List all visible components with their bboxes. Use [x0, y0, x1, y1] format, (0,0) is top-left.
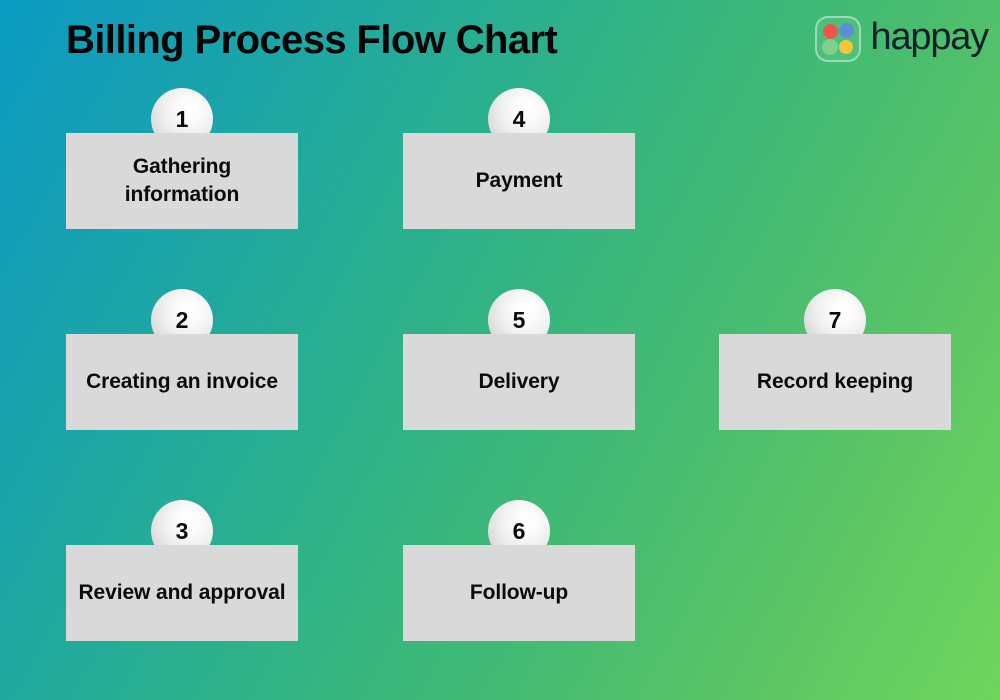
- logo-dot-blue-icon: [839, 23, 854, 38]
- step-box: Delivery: [403, 334, 635, 430]
- step-box: Record keeping: [719, 334, 951, 430]
- logo-dot-green-icon: [822, 39, 838, 55]
- logo-wordmark: happay: [871, 18, 988, 60]
- step-label: Gathering information: [74, 153, 290, 208]
- logo-dot-yellow-icon: [839, 40, 853, 54]
- step-label: Creating an invoice: [86, 368, 278, 396]
- step-label: Review and approval: [78, 579, 285, 607]
- page-title: Billing Process Flow Chart: [66, 16, 557, 64]
- step-label: Delivery: [479, 368, 560, 396]
- happay-logo: happay: [815, 16, 988, 62]
- step-label: Follow-up: [470, 579, 568, 607]
- step-box: Follow-up: [403, 545, 635, 641]
- step-box: Gathering information: [66, 133, 298, 229]
- happay-logo-mark-icon: [815, 16, 861, 62]
- step-label: Record keeping: [757, 368, 913, 396]
- logo-dot-red-icon: [823, 24, 838, 39]
- step-label: Payment: [476, 167, 563, 195]
- step-box: Payment: [403, 133, 635, 229]
- step-box: Review and approval: [66, 545, 298, 641]
- step-box: Creating an invoice: [66, 334, 298, 430]
- flowchart-canvas: Billing Process Flow Chart happay 1 Gath…: [0, 0, 1000, 700]
